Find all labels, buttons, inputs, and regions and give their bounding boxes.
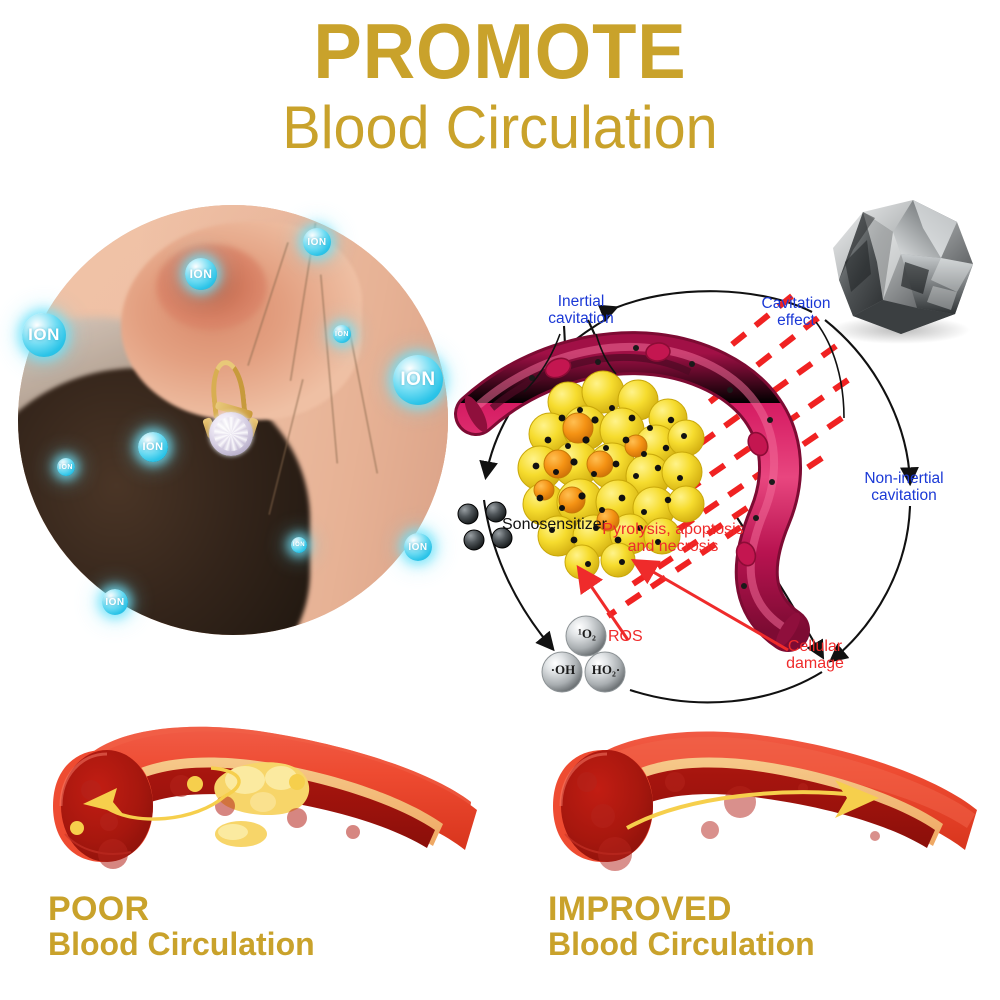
ion-bubble-label: ION: [335, 331, 349, 338]
ion-bubble: ION: [22, 313, 66, 357]
ear-photo-circle: [18, 205, 448, 635]
ion-bubble-label: ION: [293, 542, 305, 548]
ion-bubble-label: ION: [142, 441, 163, 453]
ion-bubble: ION: [57, 458, 75, 476]
poor-title: POOR: [48, 892, 315, 927]
ion-bubble: ION: [333, 325, 351, 343]
molecule-label-hydroxyl: ·OH: [543, 663, 583, 677]
sonodynamic-cavitation-diagram: Inertial cavitation Cavitation effect No…: [440, 268, 985, 708]
ion-bubble-label: ION: [28, 325, 60, 345]
ion-bubble: ION: [138, 432, 168, 462]
ion-bubble-label: ION: [105, 597, 124, 608]
ion-bubble: ION: [404, 533, 432, 561]
molecule-label-hydroperoxyl: HO₂·: [585, 663, 627, 677]
poor-circulation-illustration: [35, 710, 485, 885]
molecule-label-singlet-oxygen: ¹O₂: [568, 627, 606, 641]
poor-circulation-caption: POOR Blood Circulation: [48, 892, 315, 962]
poor-subtitle: Blood Circulation: [48, 927, 315, 962]
label-cavitation-effect: Cavitation effect: [740, 296, 852, 329]
label-inertial-cavitation: Inertial cavitation: [526, 294, 636, 327]
label-pyrolysis: Pyrolysis, apoptosis and necrosis: [558, 521, 788, 556]
page-header: PROMOTE Blood Circulation: [0, 14, 1000, 158]
ion-bubble-label: ION: [59, 464, 73, 471]
ion-bubble-label: ION: [400, 369, 435, 391]
improved-circulation-caption: IMPROVED Blood Circulation: [548, 892, 815, 962]
ion-bubble: ION: [291, 537, 307, 553]
ion-bubble-label: ION: [190, 267, 213, 281]
ion-bubble: ION: [102, 589, 128, 615]
ion-bubble: ION: [185, 258, 217, 290]
ion-bubble-label: ION: [408, 542, 427, 553]
improved-title: IMPROVED: [548, 892, 815, 927]
ear-inner-shadow: [156, 244, 268, 330]
promo-poster: PROMOTE Blood Circulation IONIONIONIONIO…: [0, 0, 1000, 1000]
page-subtitle: Blood Circulation: [20, 98, 980, 158]
ion-bubble-label: ION: [307, 237, 326, 248]
page-title: PROMOTE: [35, 14, 965, 88]
improved-circulation-illustration: [535, 710, 985, 885]
ion-bubble: ION: [303, 228, 331, 256]
label-ros: ROS: [608, 628, 643, 645]
ion-bubble: ION: [393, 355, 443, 405]
improved-subtitle: Blood Circulation: [548, 927, 815, 962]
crystal-gem: [209, 412, 253, 456]
label-non-inertial-cavitation: Non-inertial cavitation: [845, 471, 963, 504]
gold-earring: [199, 360, 267, 470]
label-cellular-damage: Cellular damage: [770, 638, 860, 673]
